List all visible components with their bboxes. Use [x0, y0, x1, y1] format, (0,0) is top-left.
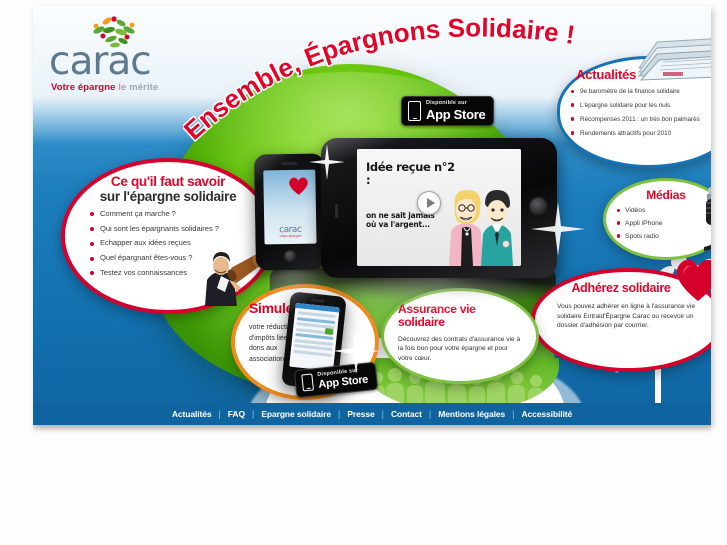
phone-home-button — [284, 250, 297, 263]
play-button[interactable] — [417, 191, 441, 215]
row — [294, 349, 332, 356]
list-item[interactable]: Appli iPhone — [616, 220, 686, 228]
footer-link-mentions-legales[interactable]: Mentions légales — [431, 409, 512, 419]
simulator-ui — [289, 303, 339, 371]
simulator-highlight — [325, 328, 334, 335]
app-store-small-label: Disponible sur — [426, 101, 485, 107]
tagline-strong: Votre épargne — [51, 82, 115, 93]
iphone-left-app-logo: carac Votre épargne — [273, 225, 307, 238]
carac-logo[interactable]: carac Votre épargne le mérite — [41, 14, 201, 98]
play-icon — [427, 198, 435, 208]
screenshot-canvas: carac Votre épargne le mérite Ensemble, … — [0, 0, 727, 545]
bubble-medias-list: Vidéos Appli iPhone Spots radio — [616, 207, 686, 245]
footer-link-actualites[interactable]: Actualités — [165, 409, 219, 419]
bubble-adherez-text: Vous pouvez adhérer en ligne à l'assuran… — [557, 302, 697, 331]
app-store-badge-top[interactable]: Disponible sur App Store — [401, 96, 494, 126]
phone-speaker — [311, 298, 324, 302]
list-item[interactable]: Spots radio — [616, 233, 686, 241]
bubble-savoir-title-line2: sur l'épargne solidaire — [65, 190, 271, 204]
list-item[interactable]: Récompenses 2011 : un très bon palmarès — [570, 116, 711, 123]
bubble-assurance-text: Découvrez des contrats d'assurance vie à… — [398, 335, 524, 363]
tagline-light: le mérite — [118, 82, 158, 93]
list-item[interactable]: Qui sont les épargnants solidaires ? — [89, 225, 219, 234]
website-page: carac Votre épargne le mérite Ensemble, … — [33, 6, 711, 425]
carac-wordmark: carac — [49, 42, 151, 81]
footer-link-contact[interactable]: Contact — [384, 409, 429, 419]
video-screen[interactable]: Idée reçue n°2 : on ne sait jamais où va… — [357, 149, 521, 266]
bubble-actualites-list: 9e baromètre de la finance solidaire L'é… — [570, 88, 711, 143]
footer-link-faq[interactable]: FAQ — [221, 409, 252, 419]
bubble-medias-title: Médias — [606, 189, 711, 202]
footer-navigation[interactable]: Actualités | FAQ | Epargne solidaire | P… — [33, 403, 711, 425]
app-store-label: App Store — [426, 108, 485, 121]
phone-reflection — [323, 276, 553, 316]
microphone-icon — [698, 185, 711, 251]
page-drop-shadow — [33, 425, 711, 433]
simulator-rows — [293, 311, 335, 359]
cartoon-characters — [435, 174, 519, 266]
phone-speaker — [335, 204, 338, 218]
bubble-actualites-title: Actualités — [576, 68, 636, 82]
iphone-icon — [301, 374, 314, 392]
video-player[interactable]: Idée reçue n°2 : on ne sait jamais où va… — [357, 149, 521, 266]
footer-link-epargne-solidaire[interactable]: Epargne solidaire — [254, 409, 338, 419]
list-item[interactable]: 9e baromètre de la finance solidaire — [570, 88, 711, 95]
iphone-left: carac Votre épargne — [254, 153, 326, 270]
carac-tagline: Votre épargne le mérite — [51, 82, 158, 93]
list-item[interactable]: Comment ça marche ? — [89, 210, 219, 219]
simulator-screen — [289, 303, 339, 371]
bubble-savoir-title-line1: Ce qu'il faut savoir — [65, 175, 271, 189]
iphone-center-video[interactable]: Idée reçue n°2 : on ne sait jamais où va… — [321, 138, 557, 278]
newspapers-icon — [633, 32, 711, 84]
heart-icon — [287, 176, 309, 196]
footer-link-accessibilite[interactable]: Accessibilité — [514, 409, 579, 419]
iphone-icon — [408, 101, 421, 121]
footer-link-presse[interactable]: Presse — [340, 409, 381, 419]
phone-speaker — [281, 162, 297, 165]
list-item[interactable]: Rendements attractifs pour 2010 — [570, 130, 711, 137]
list-item[interactable]: L'épargne solidaire pour les nuls — [570, 102, 711, 109]
bubble-ce-quil-faut-savoir[interactable]: Ce qu'il faut savoir sur l'épargne solid… — [61, 158, 275, 314]
phone-home-button — [529, 197, 548, 216]
iphone-left-screen: carac Votre épargne — [263, 170, 316, 245]
red-heart-icon — [673, 256, 711, 302]
bubble-adherez-solidaire[interactable]: Adhérez solidaire Vous pouvez adhérer en… — [531, 268, 711, 372]
app-logo-tagline: Votre épargne — [273, 234, 307, 238]
bubble-savoir-title: Ce qu'il faut savoir sur l'épargne solid… — [65, 175, 271, 204]
list-item[interactable]: Vidéos — [616, 207, 686, 215]
